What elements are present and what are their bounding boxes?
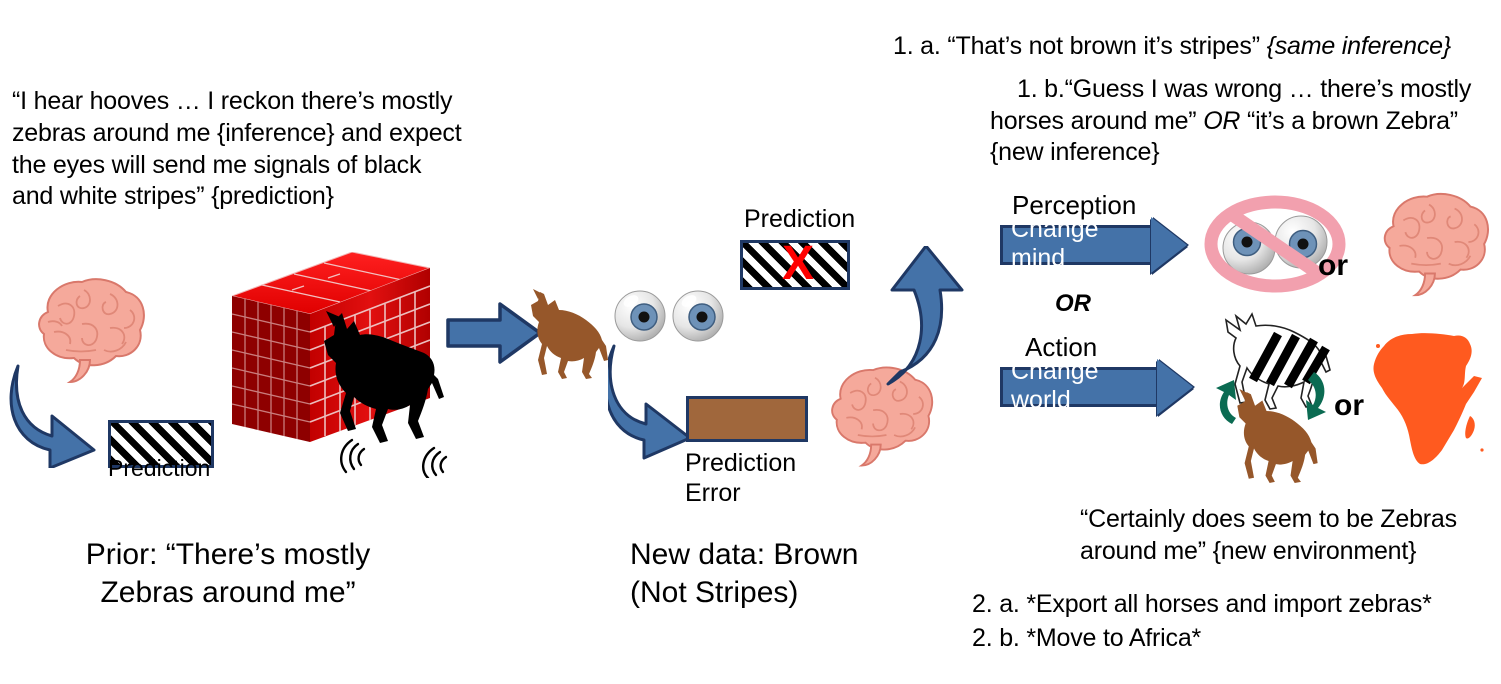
prior-quote-text: “I hear hooves … I reckon there’s mostly… [12,86,462,213]
africa-map-icon [1370,330,1494,486]
sound-wave-icon [330,430,460,478]
curved-arrow-down-icon [608,340,698,460]
diagram-canvas: “I hear hooves … I reckon there’s mostly… [0,0,1501,684]
brown-horse-icon [528,288,612,380]
or-label-2: or [1334,388,1364,423]
prediction-error-box [686,396,808,442]
annotation-2b: 2. b. *Move to Africa* [972,624,1201,654]
arrow-head-icon [1151,217,1187,273]
red-x-icon: X [770,238,826,294]
caption-prior: Prior: “There’s mostly Zebras around me” [18,536,438,612]
change-mind-banner[interactable]: Change mind [1000,225,1187,265]
brain-icon [1364,186,1494,298]
or-label-1: or [1318,248,1348,283]
annotation-1b: 1. b.“Guess I was wrong … there’s mostly… [990,42,1490,201]
curved-arrow-up-icon [866,246,966,386]
change-mind-label: Change mind [1000,225,1152,265]
curved-down-arrow-icon [8,358,104,468]
or-divider-label: OR [1055,290,1091,318]
change-world-banner[interactable]: Change world [1000,367,1193,407]
annotation-1b-or: OR [1203,107,1240,135]
eyes-icon [614,285,724,347]
brown-horse-icon [1226,388,1330,484]
certainly-quote: “Certainly does seem to be Zebras around… [1080,504,1500,567]
arrow-head-icon [1157,359,1193,415]
change-world-label: Change world [1000,367,1158,407]
prediction-label-top: Prediction [744,205,944,235]
caption-new-data: New data: Brown (Not Stripes) [630,536,930,612]
prediction-label-left: Prediction [108,455,308,482]
annotation-2a: 2. a. *Export all horses and import zebr… [972,590,1432,620]
